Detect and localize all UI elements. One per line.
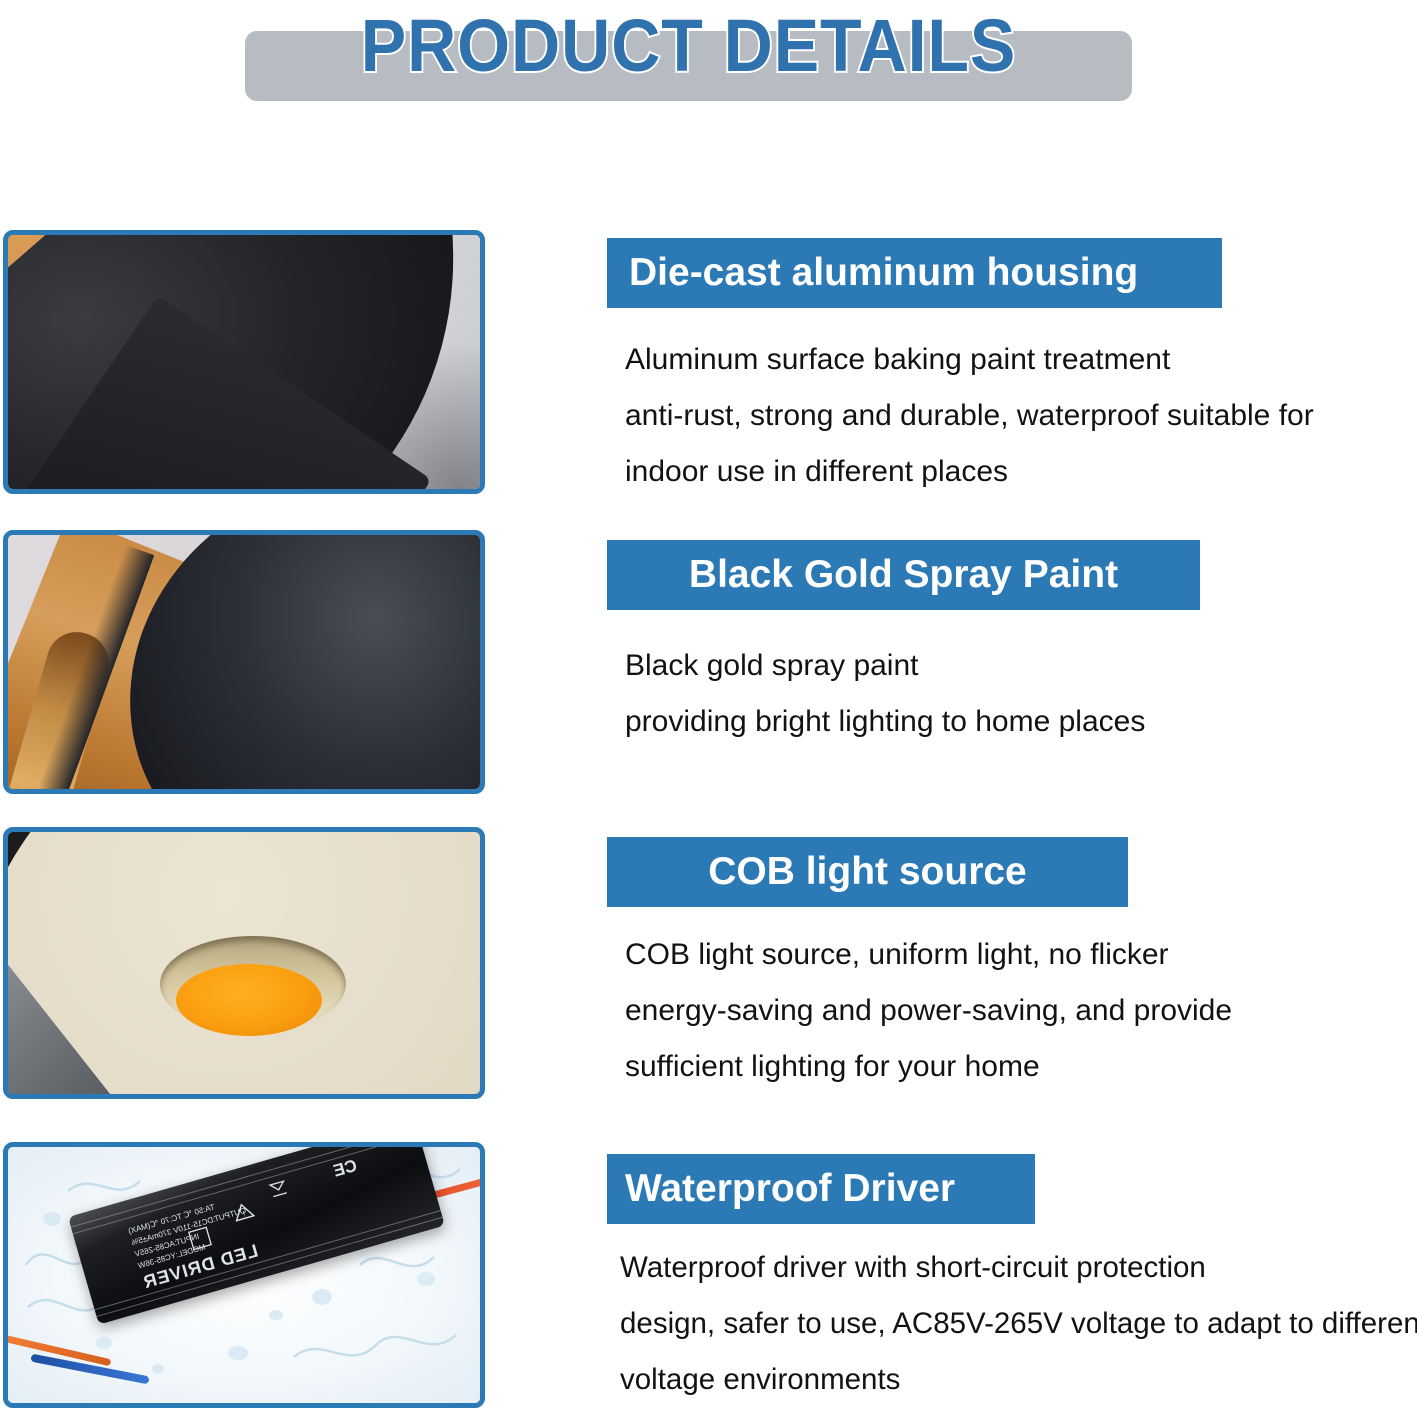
section-body-text: Waterproof driver with short-circuit pro…: [620, 1240, 1417, 1408]
page-title: PRODUCT DETAILS: [280, 2, 1096, 90]
section-waterproof-driver: TA:50 ℃ TC:70 ℃(MAX) OUTPUT:DC15-110V 37…: [0, 1142, 1417, 1414]
section-heading-text: Die-cast aluminum housing: [607, 238, 1222, 308]
body-line: voltage environments: [620, 1352, 1417, 1408]
ce-mark-icon: CE: [331, 1156, 359, 1182]
section-heading-banner: Die-cast aluminum housing: [607, 238, 1222, 308]
section-die-cast-aluminum-housing: Die-cast aluminum housing Aluminum surfa…: [0, 230, 1417, 500]
section-body-text: COB light source, uniform light, no flic…: [625, 927, 1232, 1095]
section-heading-text: COB light source: [607, 837, 1128, 907]
section-black-gold-spray-paint: Black Gold Spray Paint Black gold spray …: [0, 530, 1417, 802]
section-body-text: Black gold spray paint providing bright …: [625, 638, 1145, 750]
svg-text:!: !: [242, 1209, 247, 1218]
body-line: anti-rust, strong and durable, waterproo…: [625, 388, 1314, 444]
body-line: Aluminum surface baking paint treatment: [625, 332, 1314, 388]
square-mark-icon: [186, 1225, 213, 1252]
section-cob-light-source: COB light source COB light source, unifo…: [0, 827, 1417, 1105]
product-image-die-cast-aluminum-housing: [3, 230, 485, 494]
section-heading-text: Waterproof Driver: [607, 1154, 1035, 1224]
page-header: PRODUCT DETAILS: [0, 0, 1417, 150]
warning-triangle-icon: !: [231, 1200, 255, 1223]
body-line: indoor use in different places: [625, 444, 1314, 500]
body-line: Black gold spray paint: [625, 638, 1145, 694]
body-line: Waterproof driver with short-circuit pro…: [620, 1240, 1417, 1296]
body-line: design, safer to use, AC85V-265V voltage…: [620, 1296, 1417, 1352]
body-line: sufficient lighting for your home: [625, 1039, 1232, 1095]
body-line: energy-saving and power-saving, and prov…: [625, 983, 1232, 1039]
section-heading-banner: COB light source: [607, 837, 1128, 907]
product-image-cob-light-source: [3, 827, 485, 1099]
section-heading-text: Black Gold Spray Paint: [607, 540, 1200, 610]
section-body-text: Aluminum surface baking paint treatment …: [625, 332, 1314, 500]
section-heading-banner: Black Gold Spray Paint: [607, 540, 1200, 610]
product-details-page: PRODUCT DETAILS Die-cast aluminum housin…: [0, 0, 1417, 1414]
body-line: COB light source, uniform light, no flic…: [625, 927, 1232, 983]
section-heading-banner: Waterproof Driver: [607, 1154, 1035, 1224]
product-image-black-gold-spray-paint: [3, 530, 485, 794]
body-line: providing bright lighting to home places: [625, 694, 1145, 750]
waste-bin-icon: [266, 1178, 290, 1201]
product-image-waterproof-driver: TA:50 ℃ TC:70 ℃(MAX) OUTPUT:DC15-110V 37…: [3, 1142, 485, 1408]
